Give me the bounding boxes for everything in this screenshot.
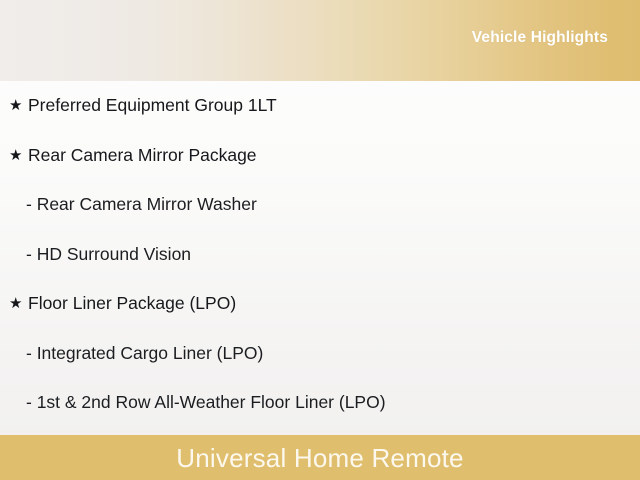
list-item-label: Rear Camera Mirror Package xyxy=(28,145,257,166)
list-item-label: - Integrated Cargo Liner (LPO) xyxy=(26,343,263,364)
list-item: - Rear Camera Mirror Washer xyxy=(0,180,640,230)
list-item-label: Preferred Equipment Group 1LT xyxy=(28,95,277,116)
star-icon: ★ xyxy=(9,98,28,113)
list-item-label: - 1st & 2nd Row All-Weather Floor Liner … xyxy=(26,392,386,413)
highlights-content: ★Preferred Equipment Group 1LT★Rear Came… xyxy=(0,81,640,435)
list-item: - 1st & 2nd Row All-Weather Floor Liner … xyxy=(0,378,640,428)
slide-footer: Universal Home Remote xyxy=(0,435,640,480)
page-title: Vehicle Highlights xyxy=(472,29,608,47)
list-item-label: Floor Liner Package (LPO) xyxy=(28,293,236,314)
list-item: ★Rear Camera Mirror Package xyxy=(0,131,640,181)
footer-title: Universal Home Remote xyxy=(176,445,463,471)
list-item-label: - Rear Camera Mirror Washer xyxy=(26,194,257,215)
slide-header: Vehicle Highlights xyxy=(0,0,640,81)
list-item: ★Floor Liner Package (LPO) xyxy=(0,279,640,329)
list-item-label: - HD Surround Vision xyxy=(26,244,191,265)
star-icon: ★ xyxy=(9,148,28,163)
highlights-list: ★Preferred Equipment Group 1LT★Rear Came… xyxy=(0,81,640,428)
list-item: ★Preferred Equipment Group 1LT xyxy=(0,81,640,131)
vehicle-highlights-slide: Vehicle Highlights ★Preferred Equipment … xyxy=(0,0,640,480)
list-item: - Integrated Cargo Liner (LPO) xyxy=(0,329,640,379)
star-icon: ★ xyxy=(9,296,28,311)
list-item: - HD Surround Vision xyxy=(0,230,640,280)
